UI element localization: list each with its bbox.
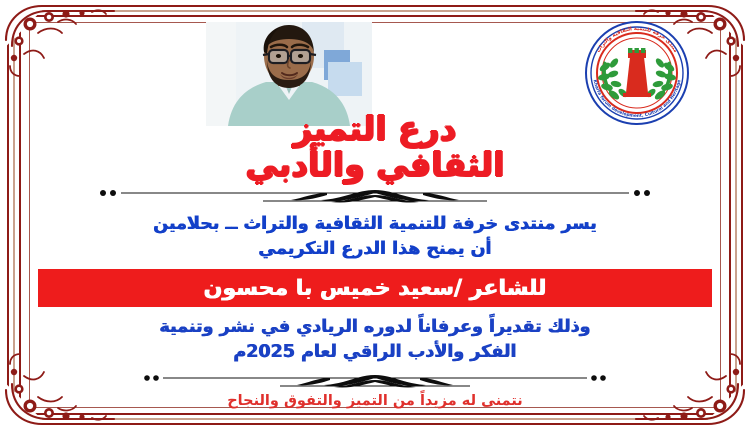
ornamental-divider-bottom-icon xyxy=(34,369,716,391)
title-line-2: الثقافي والأدبي xyxy=(34,148,716,182)
intro-line-1: يسر منتدى خرفة للتنمية الثقافية والتراث … xyxy=(44,212,706,237)
forum-logo: منتدى خرفة للتنمية الثقافية والتراث Khar… xyxy=(574,17,700,129)
reason-line-2: الفكر والأدب الراقي لعام 2025م xyxy=(44,340,706,365)
intro-text: يسر منتدى خرفة للتنمية الثقافية والتراث … xyxy=(44,212,706,262)
header-row: منتدى خرفة للتنمية الثقافية والتراث Khar… xyxy=(34,26,716,138)
honoree-portrait xyxy=(206,22,372,126)
honoree-name: للشاعر /سعيد خميس با محسون xyxy=(204,276,547,301)
reason-line-1: وذلك تقديراً وعرفاناً لدوره الريادي في ن… xyxy=(44,315,706,340)
certificate-content: منتدى خرفة للتنمية الثقافية والتراث Khar… xyxy=(34,26,716,404)
closing-wish: نتمنى له مزيداً من التميز والتفوق والنجا… xyxy=(34,393,716,409)
honoree-banner: للشاعر /سعيد خميس با محسون xyxy=(38,269,712,307)
certificate-poster: منتدى خرفة للتنمية الثقافية والتراث Khar… xyxy=(0,0,750,430)
ornamental-divider-top-icon xyxy=(34,184,716,206)
reason-text: وذلك تقديراً وعرفاناً لدوره الريادي في ن… xyxy=(44,315,706,365)
intro-line-2: أن يمنح هذا الدرع التكريمي xyxy=(44,237,706,262)
